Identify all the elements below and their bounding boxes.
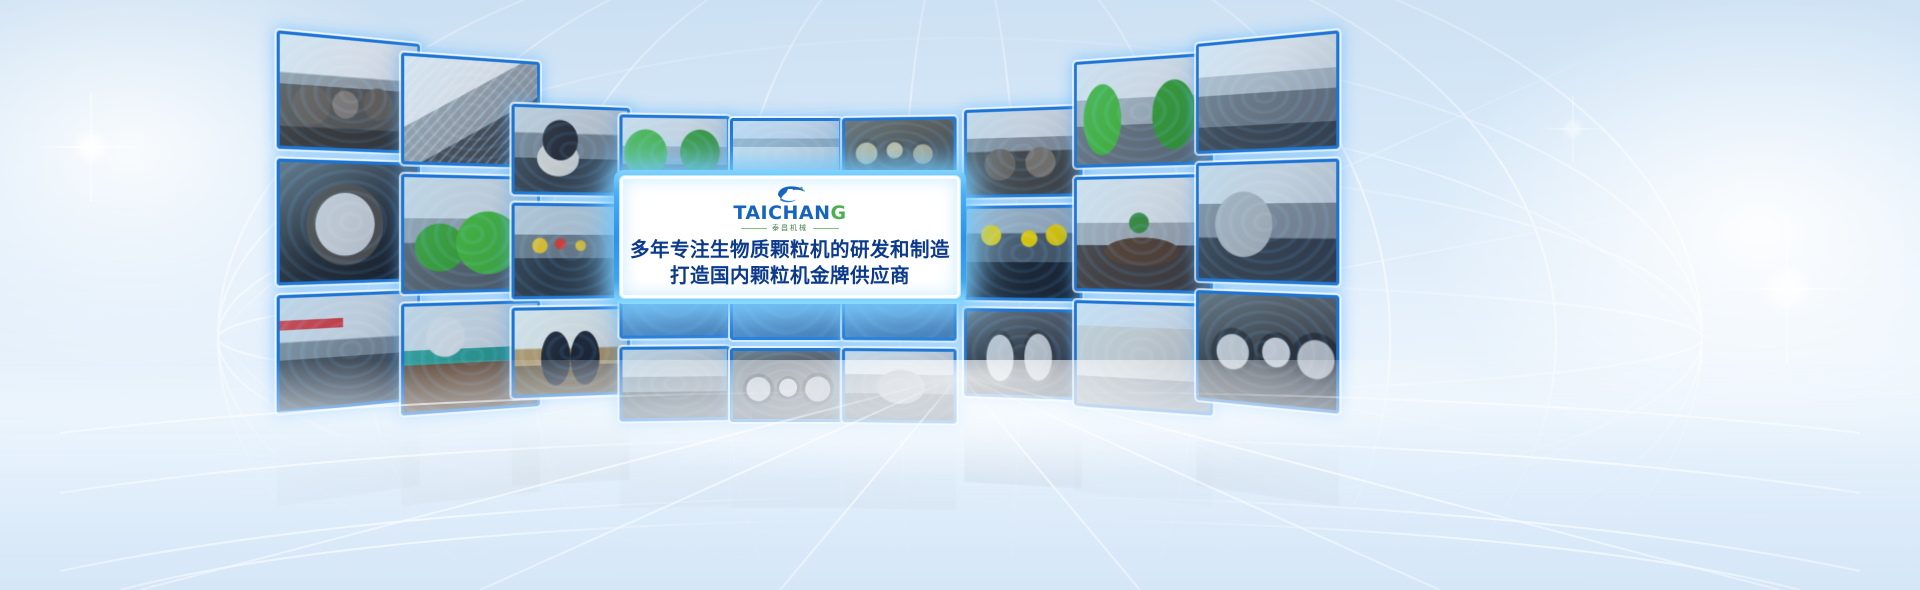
tile-roller-shells[interactable]	[730, 348, 842, 422]
tile-ring-die-shells[interactable]	[277, 158, 420, 285]
column-reflection	[277, 400, 420, 507]
taichang-swoosh-logo-icon	[773, 183, 807, 203]
tile-ring-die-stack[interactable]	[964, 308, 1082, 400]
slogan-block: 多年专注生物质颗粒机的研发和制造 打造国内颗粒机金牌供应商	[630, 237, 950, 288]
tile-image	[1077, 177, 1210, 291]
column-reflection	[842, 422, 957, 511]
tile-shade	[622, 349, 727, 419]
tile-image	[622, 349, 727, 419]
tile-image	[1199, 293, 1337, 410]
tile-image	[1199, 162, 1337, 283]
slogan-line-1: 多年专注生物质颗粒机的研发和制造	[630, 237, 950, 263]
tile-image	[515, 107, 627, 193]
tile-shade	[967, 208, 1079, 299]
tile-shade	[515, 309, 627, 395]
logo-wordmark-accent: G	[831, 202, 847, 224]
tile-image	[1077, 303, 1210, 412]
wall-column-3	[512, 104, 630, 399]
column-reflection	[964, 396, 1082, 489]
tile-image	[733, 351, 839, 419]
slogan-line-2: 打造国内颗粒机金牌供应商	[630, 263, 950, 289]
tile-workshop-interior[interactable]	[1196, 158, 1339, 285]
tile-image	[280, 162, 418, 283]
tile-image	[515, 206, 627, 297]
wall-column-7	[964, 106, 1082, 401]
tile-image	[845, 351, 954, 421]
tile-image	[1199, 34, 1337, 151]
tile-gear-parts-red[interactable]	[1196, 290, 1339, 414]
tile-image	[1077, 56, 1210, 165]
tile-shade	[1199, 34, 1337, 151]
logo-wordmark: TAICHANG	[733, 204, 846, 223]
tile-shade	[515, 206, 627, 297]
column-reflection	[512, 394, 630, 487]
tile-office-building[interactable]	[1074, 300, 1213, 416]
logo-chinese-row: 泰昌机械	[741, 225, 839, 232]
tile-image	[967, 208, 1079, 299]
logo-wordmark-text: TAICHAN	[733, 202, 830, 224]
tile-image	[280, 34, 418, 151]
tile-image	[967, 109, 1079, 195]
wall-column-8	[1074, 52, 1213, 415]
column-reflection	[1074, 406, 1213, 506]
column-reflection	[1196, 400, 1339, 507]
tile-cnc-machine-center[interactable]	[1196, 30, 1339, 154]
tile-shade	[1077, 303, 1210, 412]
tile-image	[515, 309, 627, 395]
tile-shade	[1199, 293, 1337, 410]
wall-column-9	[1196, 30, 1339, 414]
column-reflection	[619, 420, 730, 509]
slogan-card: TAICHANG 泰昌机械 多年专注生物质颗粒机的研发和制造 打造国内颗粒机金牌…	[614, 170, 966, 304]
tile-shade	[280, 162, 418, 283]
tile-shade	[1077, 56, 1210, 165]
tile-shade	[515, 107, 627, 193]
tile-green-machines-row[interactable]	[1074, 52, 1213, 168]
column-reflection	[401, 406, 540, 506]
tile-shade	[1199, 162, 1337, 283]
tile-business-handshake[interactable]	[512, 306, 630, 398]
company-logo: TAICHANG 泰昌机械	[733, 183, 846, 232]
tile-gearbox-row[interactable]	[964, 106, 1082, 198]
tile-customer-visit[interactable]	[512, 203, 630, 300]
wall-column-1	[277, 30, 420, 414]
tile-shade	[967, 109, 1079, 195]
tile-gear-assemblies[interactable]	[277, 30, 420, 154]
tile-office-meeting[interactable]	[1074, 174, 1213, 294]
tile-image	[967, 311, 1079, 397]
slogan-card-inner: TAICHANG 泰昌机械 多年专注生物质颗粒机的研发和制造 打造国内颗粒机金牌…	[619, 175, 961, 299]
tile-image	[280, 293, 418, 410]
tile-shade	[845, 351, 954, 421]
tile-cnc-workshop[interactable]	[277, 290, 420, 414]
tile-shade	[280, 34, 418, 151]
logo-chinese-name: 泰昌机械	[772, 225, 808, 232]
tile-lathe-operator[interactable]	[512, 104, 630, 196]
logo-rule-right	[813, 228, 839, 229]
tile-shade	[967, 311, 1079, 397]
tile-press-equipment[interactable]	[842, 348, 957, 424]
tile-shade	[1077, 177, 1210, 291]
tile-assembly-floor[interactable]	[619, 346, 730, 422]
column-reflection	[730, 422, 842, 508]
logo-rule-left	[741, 228, 767, 229]
banner-stage: TAICHANG 泰昌机械 多年专注生物质颗粒机的研发和制造 打造国内颗粒机金牌…	[0, 0, 1920, 590]
tile-engineers-helmets[interactable]	[964, 205, 1082, 302]
tile-shade	[280, 293, 418, 410]
